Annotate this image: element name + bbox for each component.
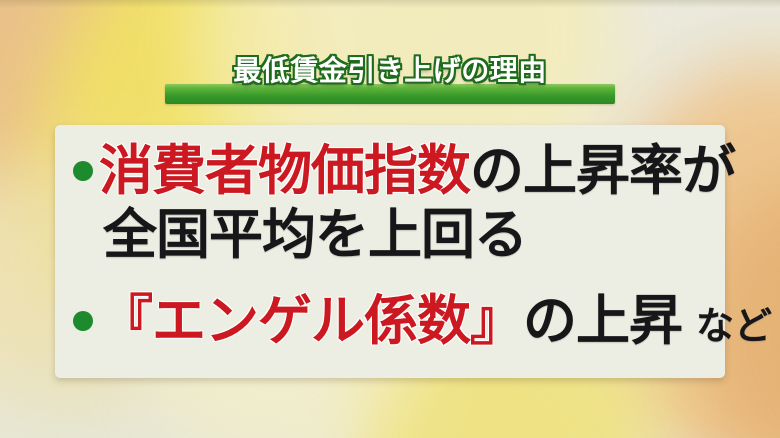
bullet-line: 消費者物価指数の上昇率が (99, 139, 735, 203)
bullet-list: 消費者物価指数の上昇率が 全国平均を上回る 『エンゲル係数』の上昇など (73, 137, 715, 372)
content-panel: 消費者物価指数の上昇率が 全国平均を上回る 『エンゲル係数』の上昇など (55, 125, 725, 378)
bullet-dot-icon (73, 161, 93, 181)
title-banner: 最低賃金引き上げの理由 (165, 84, 615, 104)
slide-stage: 最低賃金引き上げの理由 消費者物価指数の上昇率が 全国平均を上回る (0, 0, 780, 438)
bullet-text-block: 消費者物価指数の上昇率が 全国平均を上回る (99, 139, 735, 267)
bullet-2-line-1-segment-2: の上昇 (523, 289, 682, 352)
bullet-line: 全国平均を上回る (99, 203, 735, 267)
page-title: 最低賃金引き上げの理由 (165, 54, 615, 88)
bullet-2-line-1-segment-3: など (696, 304, 772, 348)
bullet-text-block: 『エンゲル係数』の上昇など (99, 289, 772, 358)
bullet-1-line-2-segment-1: 全国平均を上回る (103, 203, 527, 266)
list-item: 消費者物価指数の上昇率が 全国平均を上回る (73, 139, 715, 267)
bullet-dot-icon (73, 311, 93, 331)
bullet-line: 『エンゲル係数』の上昇など (99, 289, 772, 358)
bullet-2-line-1-segment-1: 『エンゲル係数』 (99, 289, 523, 352)
bullet-1-line-1-segment-2: の上昇率が (470, 139, 735, 202)
bullet-1-line-1-segment-1: 消費者物価指数 (99, 139, 470, 202)
list-item: 『エンゲル係数』の上昇など (73, 289, 715, 358)
